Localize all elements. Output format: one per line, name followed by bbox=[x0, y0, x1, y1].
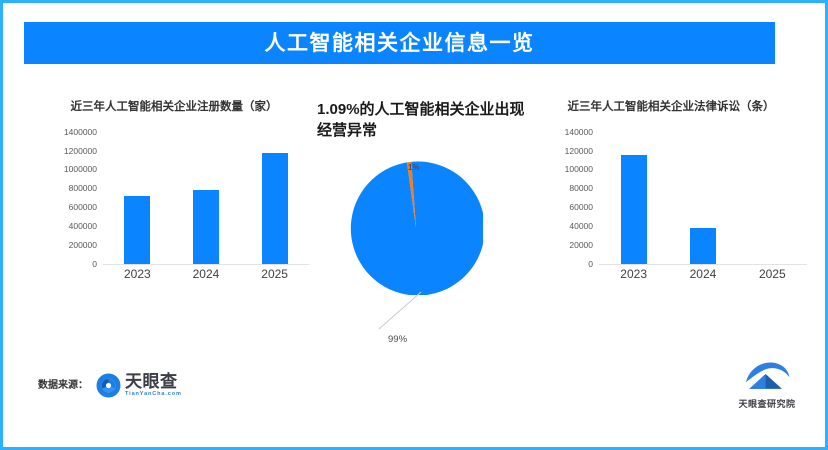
x-tick-label: 2024 bbox=[172, 268, 241, 280]
x-axis-lawsuits: 2023 2024 2025 bbox=[599, 268, 807, 280]
pie-chart-abnormal-operations: 1% 99% bbox=[311, 151, 531, 341]
chart-title-abnormal-operations: 1.09%的人工智能相关企业出现经营异常 bbox=[311, 99, 531, 141]
bar-slot bbox=[668, 132, 737, 264]
bar-chart-lawsuits: 140000 120000 100000 80000 60000 40000 2… bbox=[535, 132, 807, 284]
y-tick-label: 20000 bbox=[569, 241, 593, 250]
x-tick-label: 2024 bbox=[668, 268, 737, 280]
y-tick-label: 100000 bbox=[565, 165, 593, 174]
pie-label-1pct: 1% bbox=[408, 164, 420, 172]
y-tick-label: 40000 bbox=[569, 222, 593, 231]
chart-panel-abnormal-operations: 1.09%的人工智能相关企业出现经营异常 1% 99% bbox=[311, 99, 531, 341]
institute-logo[interactable]: 天眼查研究院 bbox=[725, 359, 809, 409]
tianyancha-name-cn: 天眼查 bbox=[125, 373, 182, 390]
bar-2024[interactable] bbox=[193, 190, 219, 264]
pie-svg bbox=[349, 161, 483, 295]
x-tick-label: 2023 bbox=[103, 268, 172, 280]
bar-chart-registrations: 1400000 1200000 1000000 800000 600000 40… bbox=[39, 132, 309, 284]
plot-area-lawsuits bbox=[599, 132, 807, 265]
chart-title-registrations: 近三年人工智能相关企业注册数量（家） bbox=[39, 99, 309, 116]
pie-leader-line bbox=[369, 291, 423, 333]
tianyancha-eye-icon bbox=[96, 373, 121, 398]
bar-slot bbox=[599, 132, 668, 264]
bar-2024[interactable] bbox=[690, 228, 716, 264]
bar-slot bbox=[103, 132, 172, 264]
tianyancha-name-en: TianYanCha.com bbox=[125, 392, 182, 398]
x-axis-registrations: 2023 2024 2025 bbox=[103, 268, 309, 280]
y-tick-label: 0 bbox=[588, 259, 593, 268]
y-tick-label: 60000 bbox=[569, 203, 593, 212]
y-axis-registrations: 1400000 1200000 1000000 800000 600000 40… bbox=[39, 132, 101, 264]
bar-2025[interactable] bbox=[262, 153, 288, 263]
bar-slot bbox=[240, 132, 309, 264]
tianyancha-logo[interactable]: 天眼查 TianYanCha.com bbox=[96, 373, 182, 398]
x-tick-label: 2023 bbox=[599, 268, 668, 280]
pie-slice-99[interactable] bbox=[351, 162, 483, 295]
y-tick-label: 120000 bbox=[565, 146, 593, 155]
bar-2023[interactable] bbox=[124, 196, 150, 264]
y-tick-label: 400000 bbox=[69, 222, 97, 231]
title-banner: 人工智能相关企业信息一览 bbox=[24, 22, 775, 64]
pie-label-99pct: 99% bbox=[388, 335, 407, 345]
page-title: 人工智能相关企业信息一览 bbox=[265, 33, 535, 54]
bar-2023[interactable] bbox=[621, 155, 647, 263]
bar-slot bbox=[172, 132, 241, 264]
data-source-label: 数据来源： bbox=[38, 381, 88, 391]
y-tick-label: 1400000 bbox=[64, 127, 97, 136]
chart-panel-registrations: 近三年人工智能相关企业注册数量（家） 1400000 1200000 10000… bbox=[39, 99, 309, 284]
tianyancha-wordmark: 天眼查 TianYanCha.com bbox=[125, 373, 182, 398]
y-tick-label: 0 bbox=[92, 259, 97, 268]
y-tick-label: 140000 bbox=[565, 127, 593, 136]
institute-name: 天眼查研究院 bbox=[725, 400, 809, 409]
x-tick-label: 2025 bbox=[738, 268, 807, 280]
chart-panel-lawsuits: 近三年人工智能相关企业法律诉讼（条） 140000 120000 100000 … bbox=[535, 99, 807, 284]
y-tick-label: 200000 bbox=[69, 241, 97, 250]
y-axis-lawsuits: 140000 120000 100000 80000 60000 40000 2… bbox=[535, 132, 597, 264]
y-tick-label: 80000 bbox=[569, 184, 593, 193]
y-tick-label: 1000000 bbox=[64, 165, 97, 174]
plot-area-registrations bbox=[103, 132, 309, 265]
x-tick-label: 2025 bbox=[240, 268, 309, 280]
infographic-root: 人工智能相关企业信息一览 近三年人工智能相关企业注册数量（家） 1400000 … bbox=[0, 0, 828, 450]
y-tick-label: 600000 bbox=[69, 203, 97, 212]
y-tick-label: 1200000 bbox=[64, 146, 97, 155]
data-source: 数据来源： 天眼查 TianYanCha.com bbox=[38, 373, 182, 398]
y-tick-label: 800000 bbox=[69, 184, 97, 193]
institute-arch-icon bbox=[743, 359, 791, 393]
bar-slot bbox=[738, 132, 807, 264]
chart-title-lawsuits: 近三年人工智能相关企业法律诉讼（条） bbox=[535, 99, 807, 116]
